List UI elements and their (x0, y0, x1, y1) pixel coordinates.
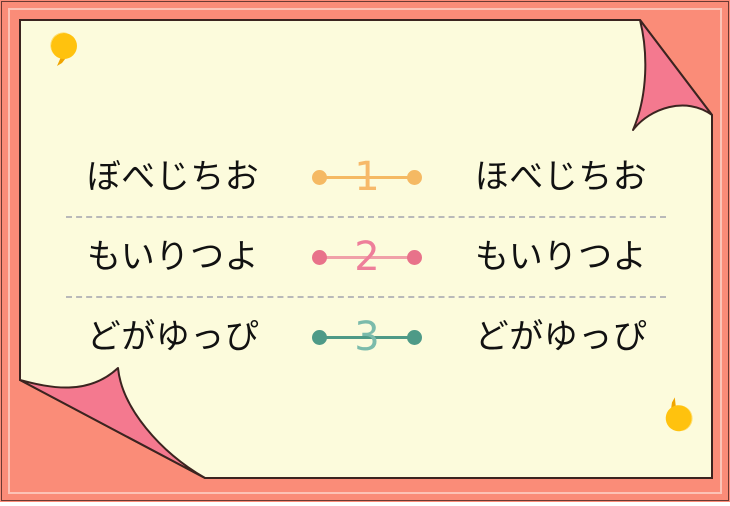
table-row: どがゆっぴ 3 どがゆっぴ (20, 298, 712, 376)
left-word: もいりつよ (48, 240, 298, 274)
match-connector-3[interactable]: 3 (312, 317, 422, 357)
match-connector-2[interactable]: 2 (312, 237, 422, 277)
match-connector-1[interactable]: 1 (312, 157, 422, 197)
connector-number: 1 (312, 157, 422, 197)
worksheet-content: ぼべじちお 1 ほべじちお もいりつよ 2 もい (20, 20, 712, 478)
connector-number: 2 (312, 237, 422, 277)
right-word: どがゆっぴ (436, 320, 686, 354)
matching-rows: ぼべじちお 1 ほべじちお もいりつよ 2 もい (20, 138, 712, 376)
worksheet: ぼべじちお 1 ほべじちお もいりつよ 2 もい (0, 0, 730, 502)
left-word: ぼべじちお (48, 160, 298, 194)
connector-number: 3 (312, 317, 422, 357)
table-row: もいりつよ 2 もいりつよ (20, 218, 712, 296)
right-word: もいりつよ (436, 240, 686, 274)
left-word: どがゆっぴ (48, 320, 298, 354)
table-row: ぼべじちお 1 ほべじちお (20, 138, 712, 216)
right-word: ほべじちお (436, 160, 686, 194)
